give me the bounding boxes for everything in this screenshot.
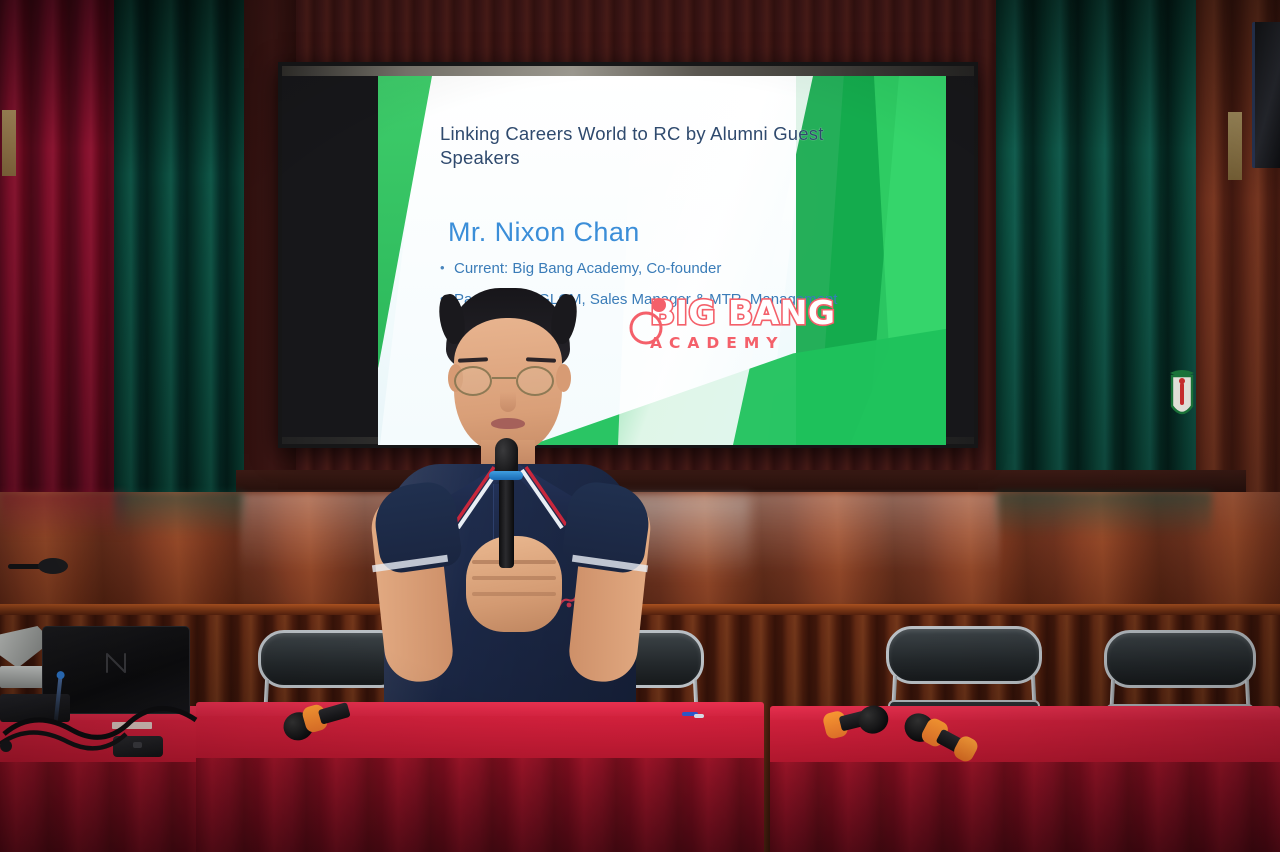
slide-title: Linking Careers World to RC by Alumni Gu… (440, 122, 832, 171)
presenter-mouth (491, 418, 525, 429)
curtain-green-left (114, 0, 244, 500)
exit-sign-right (1228, 112, 1242, 180)
curtain-reflection-green-left (114, 492, 244, 538)
glasses-lens (454, 366, 492, 396)
glasses-bridge (492, 377, 516, 379)
loudspeaker-icon (1252, 22, 1280, 168)
school-emblem-icon (1168, 368, 1196, 426)
pen-cap (694, 714, 704, 718)
big-bang-academy-logo: BIG BANG ACADEMY (650, 296, 892, 352)
chair-backrest (1104, 630, 1256, 688)
cables-icon (0, 700, 200, 754)
table-skirt (770, 762, 1280, 852)
microphone-shaft (318, 702, 351, 725)
table-skirt (196, 758, 764, 852)
microphone-body (499, 478, 514, 568)
microphone-on-floor-icon (8, 558, 70, 574)
microphone-band (489, 471, 523, 480)
glasses-lens (516, 366, 554, 396)
table-center (196, 702, 764, 852)
curtain-red-left (0, 0, 126, 496)
microphone-held-icon[interactable] (494, 438, 518, 568)
presenter-nose (500, 392, 516, 412)
slide-speaker-name: Mr. Nixon Chan (448, 217, 640, 248)
display-top-bezel (282, 66, 974, 76)
pen-icon[interactable] (682, 710, 704, 720)
logo-subwordmark: ACADEMY (650, 334, 892, 352)
curtain-reflection-green-right (996, 492, 1212, 538)
chair-backrest (886, 626, 1042, 684)
curtain-reflection-red (0, 492, 126, 538)
logo-wordmark: BIG BANG (650, 296, 892, 329)
exit-sign-left (2, 110, 16, 176)
laptop-logo-icon (103, 652, 129, 674)
microphone-foam-cover (855, 702, 891, 736)
photo-scene: Linking Careers World to RC by Alumni Gu… (0, 0, 1280, 852)
slide-bullet-1: Current: Big Bang Academy, Co-founder (454, 258, 840, 281)
list-item: • Current: Big Bang Academy, Co-founder (440, 258, 840, 281)
bullet-marker-icon: • (440, 258, 454, 281)
